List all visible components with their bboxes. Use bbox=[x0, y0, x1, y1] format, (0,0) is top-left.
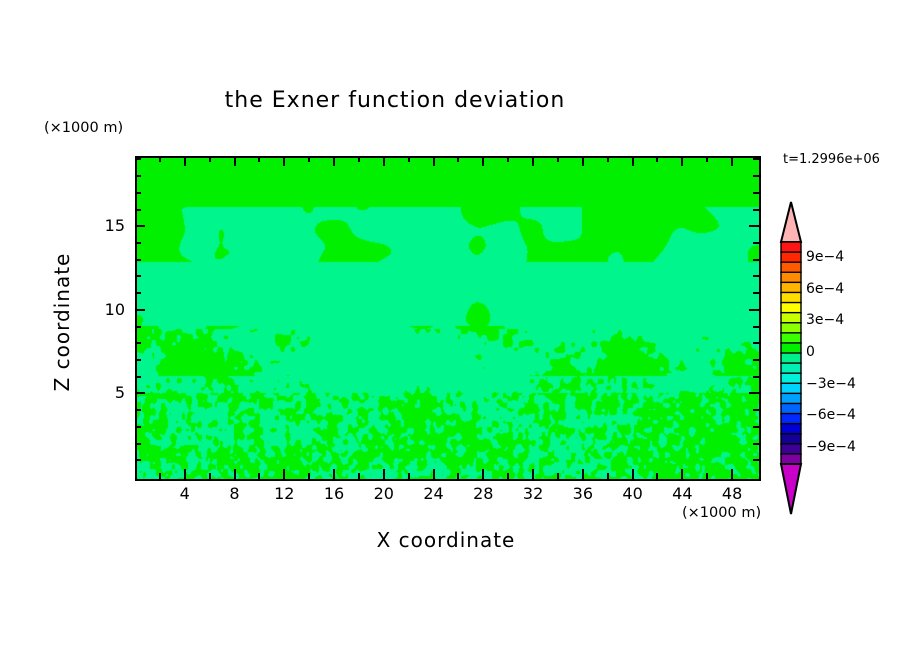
y-axis-minor-tick-right bbox=[753, 342, 759, 344]
colorbar-segment bbox=[781, 434, 801, 445]
colorbar-segment bbox=[781, 383, 801, 394]
x-axis-major-tick-top bbox=[184, 156, 186, 166]
x-axis-tick-label: 36 bbox=[563, 484, 603, 503]
y-axis-units-label: (×1000 m) bbox=[44, 120, 123, 136]
colorbar-tick-label: −9e−4 bbox=[806, 439, 856, 455]
y-axis-minor-tick bbox=[135, 259, 141, 261]
x-axis-units-label: (×1000 m) bbox=[682, 505, 761, 521]
y-axis-minor-tick bbox=[135, 426, 141, 428]
x-axis-major-tick bbox=[433, 469, 435, 479]
x-axis-tick-label: 24 bbox=[414, 484, 454, 503]
colorbar-tick-label: 3e−4 bbox=[806, 312, 844, 328]
x-axis-major-tick bbox=[532, 469, 534, 479]
colorbar: 9e−46e−43e−40−3e−4−6e−4−9e−4 bbox=[770, 196, 900, 526]
y-axis-minor-tick-right bbox=[753, 409, 759, 411]
colorbar-swatches bbox=[770, 196, 900, 526]
x-axis-major-tick-top bbox=[532, 156, 534, 166]
x-axis-minor-tick bbox=[408, 473, 410, 479]
x-axis-tick-label: 20 bbox=[364, 484, 404, 503]
x-axis-tick-label: 32 bbox=[513, 484, 553, 503]
x-axis-major-tick bbox=[184, 469, 186, 479]
colorbar-segment bbox=[781, 252, 801, 263]
colorbar-segment bbox=[781, 313, 801, 324]
x-axis-minor-tick bbox=[457, 473, 459, 479]
colorbar-tick-label: 0 bbox=[806, 344, 815, 360]
colorbar-segment bbox=[781, 444, 801, 455]
x-axis-minor-tick bbox=[209, 473, 211, 479]
time-annotation: t=1.2996e+06 bbox=[783, 152, 880, 167]
x-axis-minor-tick bbox=[258, 473, 260, 479]
x-axis-major-tick bbox=[731, 469, 733, 479]
y-axis-minor-tick-right bbox=[753, 158, 759, 160]
x-axis-title: X coordinate bbox=[135, 528, 757, 552]
x-axis-tick-label: 28 bbox=[463, 484, 503, 503]
x-axis-tick-label: 40 bbox=[613, 484, 653, 503]
colorbar-segment bbox=[781, 393, 801, 404]
colorbar-segment bbox=[781, 262, 801, 273]
x-axis-minor-tick-top bbox=[209, 156, 211, 162]
y-axis-major-tick bbox=[135, 225, 145, 227]
x-axis-tick-label: 48 bbox=[712, 484, 752, 503]
y-axis-minor-tick-right bbox=[753, 292, 759, 294]
y-axis-minor-tick-right bbox=[753, 242, 759, 244]
x-axis-minor-tick bbox=[358, 473, 360, 479]
x-axis-major-tick bbox=[681, 469, 683, 479]
colorbar-segment bbox=[781, 323, 801, 334]
y-axis-minor-tick bbox=[135, 342, 141, 344]
y-axis-minor-tick-right bbox=[753, 326, 759, 328]
x-axis-minor-tick bbox=[507, 473, 509, 479]
y-axis-minor-tick bbox=[135, 292, 141, 294]
x-axis-major-tick-top bbox=[482, 156, 484, 166]
x-axis-minor-tick bbox=[706, 473, 708, 479]
x-axis-minor-tick-top bbox=[457, 156, 459, 162]
x-axis-minor-tick-top bbox=[258, 156, 260, 162]
y-axis-major-tick bbox=[135, 309, 145, 311]
colorbar-extend-top bbox=[781, 202, 801, 242]
y-axis-minor-tick bbox=[135, 376, 141, 378]
colorbar-segment bbox=[781, 373, 801, 384]
x-axis-minor-tick-top bbox=[358, 156, 360, 162]
y-axis-minor-tick bbox=[135, 175, 141, 177]
x-axis-minor-tick-top bbox=[159, 156, 161, 162]
colorbar-segment bbox=[781, 353, 801, 364]
y-axis-minor-tick bbox=[135, 275, 141, 277]
colorbar-segment bbox=[781, 424, 801, 435]
plot-area bbox=[135, 156, 761, 481]
x-axis-tick-label: 8 bbox=[215, 484, 255, 503]
x-axis-minor-tick-top bbox=[557, 156, 559, 162]
y-axis-minor-tick-right bbox=[753, 359, 759, 361]
x-axis-major-tick-top bbox=[731, 156, 733, 166]
x-axis-major-tick-top bbox=[632, 156, 634, 166]
contour-field bbox=[137, 158, 759, 479]
page-title: the Exner function deviation bbox=[0, 88, 790, 113]
x-axis-major-tick bbox=[333, 469, 335, 479]
y-axis-minor-tick bbox=[135, 242, 141, 244]
x-axis-minor-tick-top bbox=[408, 156, 410, 162]
y-axis-minor-tick bbox=[135, 409, 141, 411]
colorbar-segment bbox=[781, 242, 801, 253]
y-axis-minor-tick-right bbox=[753, 209, 759, 211]
y-axis-minor-tick-right bbox=[753, 376, 759, 378]
colorbar-segment bbox=[781, 414, 801, 425]
x-axis-major-tick-top bbox=[234, 156, 236, 166]
x-axis-major-tick-top bbox=[433, 156, 435, 166]
y-axis-major-tick-right bbox=[749, 225, 759, 227]
x-axis-tick-label: 12 bbox=[264, 484, 304, 503]
y-axis-major-tick-right bbox=[749, 309, 759, 311]
colorbar-tick-label: 6e−4 bbox=[806, 281, 844, 297]
y-axis-tick-label: 10 bbox=[85, 300, 125, 319]
x-axis-minor-tick-top bbox=[607, 156, 609, 162]
colorbar-extend-bottom bbox=[781, 464, 801, 514]
y-axis-minor-tick-right bbox=[753, 459, 759, 461]
x-axis-minor-tick-top bbox=[656, 156, 658, 162]
colorbar-tick-label: 9e−4 bbox=[806, 249, 844, 265]
y-axis-minor-tick bbox=[135, 359, 141, 361]
x-axis-minor-tick-top bbox=[507, 156, 509, 162]
x-axis-major-tick bbox=[482, 469, 484, 479]
y-axis-minor-tick-right bbox=[753, 175, 759, 177]
x-axis-major-tick-top bbox=[681, 156, 683, 166]
y-axis-minor-tick-right bbox=[753, 259, 759, 261]
colorbar-segment bbox=[781, 292, 801, 303]
colorbar-segment bbox=[781, 454, 801, 465]
x-axis-major-tick-top bbox=[283, 156, 285, 166]
colorbar-tick-label: −3e−4 bbox=[806, 376, 856, 392]
y-axis-minor-tick bbox=[135, 326, 141, 328]
y-axis-major-tick bbox=[135, 392, 145, 394]
y-axis-tick-label: 5 bbox=[85, 383, 125, 402]
y-axis-minor-tick bbox=[135, 192, 141, 194]
x-axis-minor-tick bbox=[557, 473, 559, 479]
y-axis-minor-tick bbox=[135, 459, 141, 461]
x-axis-minor-tick-top bbox=[706, 156, 708, 162]
x-axis-major-tick-top bbox=[383, 156, 385, 166]
x-axis-tick-label: 16 bbox=[314, 484, 354, 503]
x-axis-major-tick bbox=[234, 469, 236, 479]
colorbar-segment bbox=[781, 303, 801, 314]
x-axis-major-tick bbox=[582, 469, 584, 479]
colorbar-segment bbox=[781, 282, 801, 293]
y-axis-title: Z coordinate bbox=[50, 212, 74, 432]
colorbar-tick-label: −6e−4 bbox=[806, 407, 856, 423]
x-axis-minor-tick-top bbox=[308, 156, 310, 162]
x-axis-major-tick-top bbox=[333, 156, 335, 166]
y-axis-minor-tick-right bbox=[753, 443, 759, 445]
colorbar-segment bbox=[781, 403, 801, 414]
colorbar-segment bbox=[781, 363, 801, 374]
y-axis-major-tick-right bbox=[749, 392, 759, 394]
y-axis-minor-tick-right bbox=[753, 426, 759, 428]
y-axis-minor-tick bbox=[135, 443, 141, 445]
x-axis-major-tick-top bbox=[582, 156, 584, 166]
y-axis-tick-label: 15 bbox=[85, 216, 125, 235]
x-axis-minor-tick bbox=[607, 473, 609, 479]
colorbar-segment bbox=[781, 272, 801, 283]
y-axis-minor-tick bbox=[135, 209, 141, 211]
x-axis-tick-label: 4 bbox=[165, 484, 205, 503]
x-axis-minor-tick bbox=[159, 473, 161, 479]
x-axis-major-tick bbox=[283, 469, 285, 479]
y-axis-minor-tick-right bbox=[753, 192, 759, 194]
colorbar-segment bbox=[781, 343, 801, 354]
colorbar-segment bbox=[781, 333, 801, 344]
x-axis-major-tick bbox=[632, 469, 634, 479]
x-axis-major-tick bbox=[383, 469, 385, 479]
y-axis-minor-tick bbox=[135, 158, 141, 160]
x-axis-tick-label: 44 bbox=[662, 484, 702, 503]
x-axis-minor-tick bbox=[308, 473, 310, 479]
y-axis-minor-tick-right bbox=[753, 275, 759, 277]
x-axis-minor-tick bbox=[656, 473, 658, 479]
